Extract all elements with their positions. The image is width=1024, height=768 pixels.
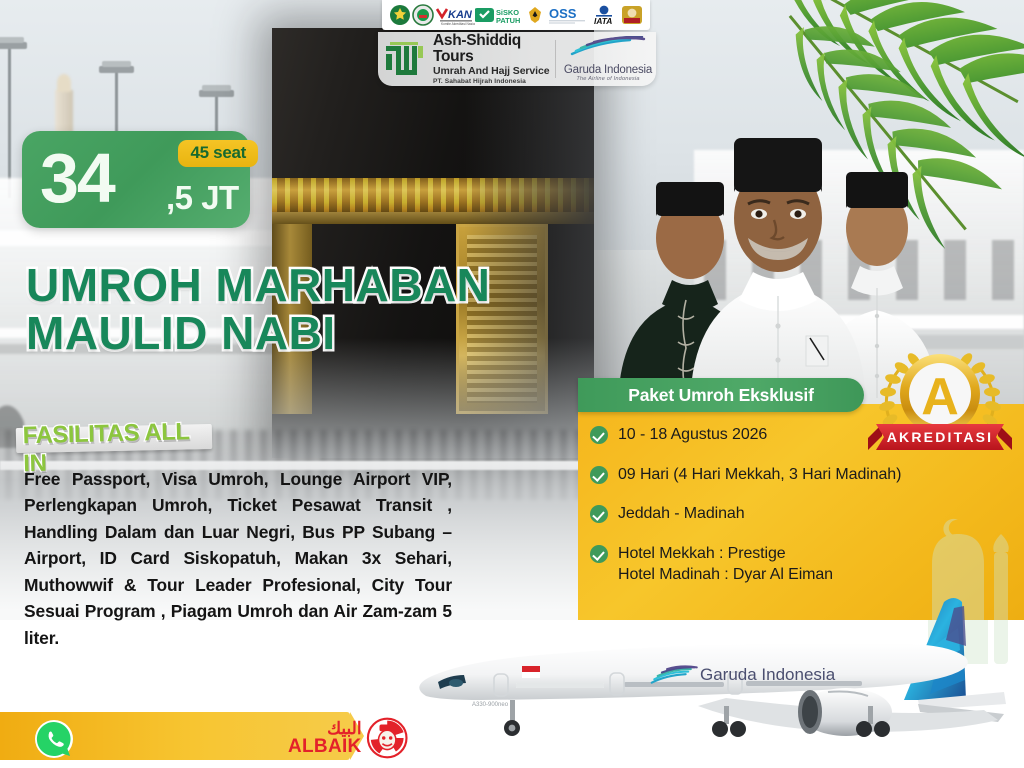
garuda-aircraft-illustration: Garuda Indonesia A330-900neo — [398, 588, 1024, 748]
facilities-description: Free Passport, Visa Umroh, Lounge Airpor… — [24, 466, 452, 651]
package-item-label: 10 - 18 Agustus 2026 — [618, 424, 767, 446]
albaik-wordmark: ALBAIK — [288, 737, 362, 756]
poster-title: UMROH MARHABAN MAULID NABI — [26, 262, 490, 358]
umrah-promo-poster: KAN Komite Akreditasi Nasional SiSKO PAT… — [0, 0, 1024, 768]
garuda-bird-icon — [566, 36, 650, 58]
facilities-banner: FASILITAS ALL IN — [16, 420, 212, 454]
price-decimal-unit: ,5 JT — [166, 179, 239, 217]
airline-name: Garuda Indonesia — [560, 64, 656, 76]
akreditasi-ribbon-label: AKREDITASI — [887, 429, 994, 445]
brand-company: PT. Sahabat Hijrah Indonesia — [433, 78, 551, 85]
aircraft-fuselage — [419, 643, 968, 700]
brand-header-bar: Ash-Shiddiq Tours Umrah And Hajj Service… — [378, 32, 656, 86]
kan-logo: KAN Komite Akreditasi Nasional — [435, 4, 475, 26]
svg-text:KAN: KAN — [448, 9, 473, 21]
brand-divider — [555, 40, 556, 78]
akreditasi-ribbon: AKREDITASI — [868, 424, 1012, 450]
indonesia-flag — [522, 666, 540, 678]
light-pole — [8, 48, 11, 198]
svg-text:OSS: OSS — [549, 6, 577, 21]
kaaba — [272, 28, 594, 458]
title-line-2: MAULID NABI — [26, 310, 490, 358]
package-item: Hotel Mekkah : Prestige Hotel Madinah : … — [590, 543, 1010, 586]
akreditasi-lembaga-logo — [412, 4, 436, 26]
albaik-chef-mascot-icon — [366, 716, 408, 760]
airline-block: Garuda Indonesia The Airline of Indonesi… — [560, 36, 656, 82]
brand-text-block: Ash-Shiddiq Tours Umrah And Hajj Service… — [433, 33, 551, 85]
package-item-label: Hotel Mekkah : Prestige Hotel Madinah : … — [618, 543, 833, 586]
title-line-1: UMROH MARHABAN — [26, 262, 490, 310]
airline-tagline: The Airline of Indonesia — [560, 76, 656, 82]
whatsapp-icon[interactable] — [34, 719, 74, 759]
package-header: Paket Umroh Eksklusif — [578, 378, 864, 412]
price-card: 34 ,5 JT 45 seat — [22, 131, 250, 228]
svg-text:Komite Akreditasi Nasional: Komite Akreditasi Nasional — [441, 22, 475, 26]
package-item: Jeddah - Madinah — [590, 503, 1010, 525]
check-icon — [590, 505, 608, 523]
oss-logo: OSS — [547, 4, 587, 26]
aircraft-livery-name: Garuda Indonesia — [700, 665, 836, 684]
albaik-arabic-wordmark: البيك — [288, 720, 362, 737]
brand-tagline: Umrah And Hajj Service — [433, 65, 551, 78]
aircraft-model-marking: A330-900neo — [472, 702, 509, 708]
iata-logo: IATA — [587, 4, 621, 26]
brand-name: Ash-Shiddiq Tours — [433, 33, 551, 66]
check-icon — [590, 426, 608, 444]
pasti-umroh-logo — [621, 4, 645, 26]
garuda-pancasila-logo — [523, 4, 547, 26]
svg-text:PATUH: PATUH — [496, 16, 520, 25]
accreditation-grade: A — [921, 368, 959, 426]
package-header-label: Paket Umroh Eksklusif — [628, 385, 813, 406]
svg-text:IATA: IATA — [594, 16, 612, 26]
check-icon — [590, 545, 608, 563]
kemenag-logo — [388, 4, 412, 26]
package-item-label: Jeddah - Madinah — [618, 503, 745, 525]
ash-shiddiq-logo — [382, 36, 428, 82]
check-icon — [590, 466, 608, 484]
price-amount: 34 — [40, 143, 114, 213]
akreditasi-badge: A AKREDITASI — [856, 342, 1024, 467]
seat-count-badge: 45 seat — [178, 140, 258, 167]
sisko-patuh-logo: SiSKO PATUH — [475, 4, 523, 26]
person-center — [690, 138, 866, 410]
certification-logos-strip: KAN Komite Akreditasi Nasional SiSKO PAT… — [382, 0, 650, 30]
albaik-sponsor-logo: البيك ALBAIK — [288, 712, 408, 764]
